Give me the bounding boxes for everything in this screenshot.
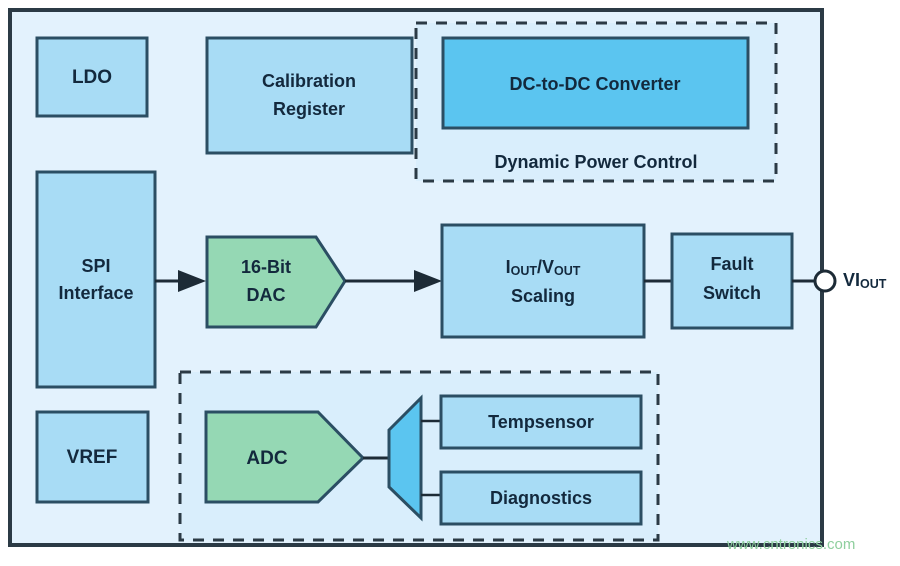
block-dc-to-dc-converter-label: DC-to-DC Converter [510, 74, 681, 94]
block-dac[interactable] [207, 237, 345, 327]
block-spi-interface-label-line2: Interface [58, 283, 133, 303]
block-scaling-label-line2: Scaling [511, 286, 575, 306]
block-diagram-svg: DC-to-DC Converter Dynamic Power Control… [0, 0, 900, 566]
output-terminal-label-main: VI [843, 270, 860, 290]
block-fault-switch[interactable] [672, 234, 792, 328]
block-fault-switch-label-line2: Switch [703, 283, 761, 303]
scaling-label-sub-out-2: OUT [554, 264, 581, 278]
block-calibration-register[interactable] [207, 38, 412, 153]
scaling-label-slash-v: /V [537, 257, 554, 277]
watermark-label: www.cntronics.com [726, 536, 855, 553]
output-terminal-node[interactable] [815, 271, 835, 291]
block-calibration-register-label-line1: Calibration [262, 71, 356, 91]
block-dac-label-line2: DAC [247, 285, 286, 305]
group-dynamic-power-control-label: Dynamic Power Control [494, 152, 697, 172]
block-ldo-label: LDO [72, 67, 112, 88]
block-spi-interface[interactable] [37, 172, 155, 387]
block-iout-vout-scaling[interactable] [442, 225, 644, 337]
block-vref-label: VREF [67, 447, 118, 468]
block-spi-interface-label-line1: SPI [81, 256, 110, 276]
block-diagnostics-label: Diagnostics [490, 488, 592, 508]
scaling-label-sub-out-1: OUT [511, 264, 538, 278]
output-terminal-label-sub: OUT [860, 277, 887, 291]
block-tempsensor-label: Tempsensor [488, 412, 594, 432]
block-adc-label: ADC [246, 448, 287, 469]
block-diagram-canvas: DC-to-DC Converter Dynamic Power Control… [0, 0, 900, 566]
block-calibration-register-label-line2: Register [273, 99, 345, 119]
block-fault-switch-label-line1: Fault [711, 254, 754, 274]
output-terminal-label: VIOUT [843, 270, 887, 292]
block-dac-label-line1: 16-Bit [241, 257, 291, 277]
